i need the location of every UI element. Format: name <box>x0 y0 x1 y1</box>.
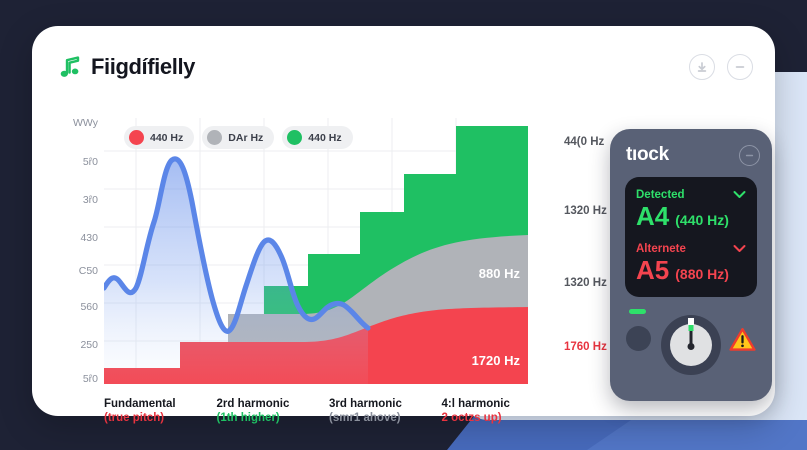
knob-hub <box>688 343 695 350</box>
y-tick-label: 250 <box>80 339 98 351</box>
header-actions <box>689 54 753 80</box>
y-tick-label: 3ȓ0 <box>83 194 98 206</box>
knob-tip <box>688 318 694 325</box>
chart-legend: 440 Hz DAr Hz 440 Hz <box>124 126 353 149</box>
legend-dot-gray <box>207 130 222 145</box>
tuner-screen: Detected A4 (440 Hz) Alterne <box>625 177 757 297</box>
music-note-icon <box>58 54 82 80</box>
right-label-1320-upper: 1320 Hz <box>564 205 607 217</box>
page-title: Fiigdífielly <box>91 54 195 80</box>
tuner-readout-detected[interactable]: Detected A4 (440 Hz) <box>636 186 746 229</box>
legend-item-green[interactable]: 440 Hz <box>282 126 352 149</box>
chevron-down-icon[interactable] <box>733 240 746 258</box>
y-tick-label: 430 <box>80 232 98 244</box>
right-label-4400: 44(0 Hz <box>564 136 604 148</box>
download-circle-icon[interactable] <box>689 54 715 80</box>
x-category-sublabel: 2 octzs up) <box>442 412 555 424</box>
legend-dot-green <box>287 130 302 145</box>
x-category-label: Fundamental <box>104 398 217 410</box>
x-category-4th-harmonic: 4:l harmonic 2 octzs up) <box>442 398 555 424</box>
legend-label: 440 Hz <box>308 132 341 144</box>
tuner-readout-alternate[interactable]: Alternete A5 (880 Hz) <box>636 240 746 283</box>
x-category-label: 4:l harmonic <box>442 398 555 410</box>
screenshot-root: Fiigdífielly WWy 5ȓ0 <box>0 0 807 450</box>
chevron-down-icon[interactable] <box>733 186 746 204</box>
legend-item-gray[interactable]: DAr Hz <box>202 126 274 149</box>
legend-dot-red <box>129 130 144 145</box>
tuner-header: tıock <box>626 142 760 168</box>
x-category-sublabel: (1th higher) <box>217 412 330 424</box>
tuner-readout-caption: Alternete <box>636 243 686 255</box>
right-label-1760: 1760 Hz <box>564 341 607 353</box>
y-tick-label: C50 <box>79 265 98 277</box>
chart-area: WWy 5ȓ0 3ȓ0 430 C50 560 250 5ȓ0 <box>58 96 598 396</box>
legend-item-red[interactable]: 440 Hz <box>124 126 194 149</box>
tuner-note-value: A4 <box>636 203 669 229</box>
chart-right-labels: 44(0 Hz 1320 Hz 1320 Hz 1760 Hz <box>532 118 602 384</box>
tuner-readout-caption: Detected <box>636 189 685 201</box>
rotary-knob-face <box>670 324 712 366</box>
x-category-sublabel: (smr1 ahove) <box>329 412 442 424</box>
minus-circle-icon[interactable] <box>739 145 760 166</box>
legend-label: DAr Hz <box>228 132 263 144</box>
tuner-frequency-value: (440 Hz) <box>675 212 729 228</box>
speaker-grille-icon <box>626 326 651 351</box>
x-category-3rd-harmonic: 3rd harmonic (smr1 ahove) <box>329 398 442 424</box>
x-category-label: 2rd harmonic <box>217 398 330 410</box>
header-brand: Fiigdífielly <box>58 54 195 80</box>
tuner-frequency-value: (880 Hz) <box>675 266 729 282</box>
legend-label: 440 Hz <box>150 132 183 144</box>
warning-triangle-icon[interactable] <box>729 327 756 352</box>
main-card: Fiigdífielly WWy 5ȓ0 <box>32 26 775 416</box>
tuner-device: tıock Detected <box>610 129 772 401</box>
tuner-note-value: A5 <box>636 257 669 283</box>
y-tick-label: 5ȓ0 <box>83 373 98 385</box>
x-category-label: 3rd harmonic <box>329 398 442 410</box>
chart-x-axis: Fundamental (true pitch) 2rd harmonic (1… <box>104 398 554 424</box>
knob-tick <box>689 325 694 331</box>
y-tick-label: WWy <box>73 117 98 129</box>
tuner-brand-label: tıock <box>626 144 669 166</box>
inline-label-red: 1720 Hz <box>472 353 520 368</box>
minus-circle-icon[interactable] <box>727 54 753 80</box>
chart-plot: 880 Hz 1720 Hz <box>104 118 528 384</box>
y-tick-label: 560 <box>80 301 98 313</box>
led-indicator <box>629 309 646 314</box>
chart-y-axis: WWy 5ȓ0 3ȓ0 430 C50 560 250 5ȓ0 <box>58 118 98 384</box>
y-tick-label: 5ȓ0 <box>83 156 98 168</box>
right-label-1320-lower: 1320 Hz <box>564 277 607 289</box>
inline-label-gray: 880 Hz <box>479 266 520 281</box>
x-category-sublabel: (true pitch) <box>104 412 217 424</box>
x-category-2nd-harmonic: 2rd harmonic (1th higher) <box>217 398 330 424</box>
rotary-knob[interactable] <box>661 315 721 375</box>
card-header: Fiigdífielly <box>58 44 753 90</box>
x-category-fundamental: Fundamental (true pitch) <box>104 398 217 424</box>
